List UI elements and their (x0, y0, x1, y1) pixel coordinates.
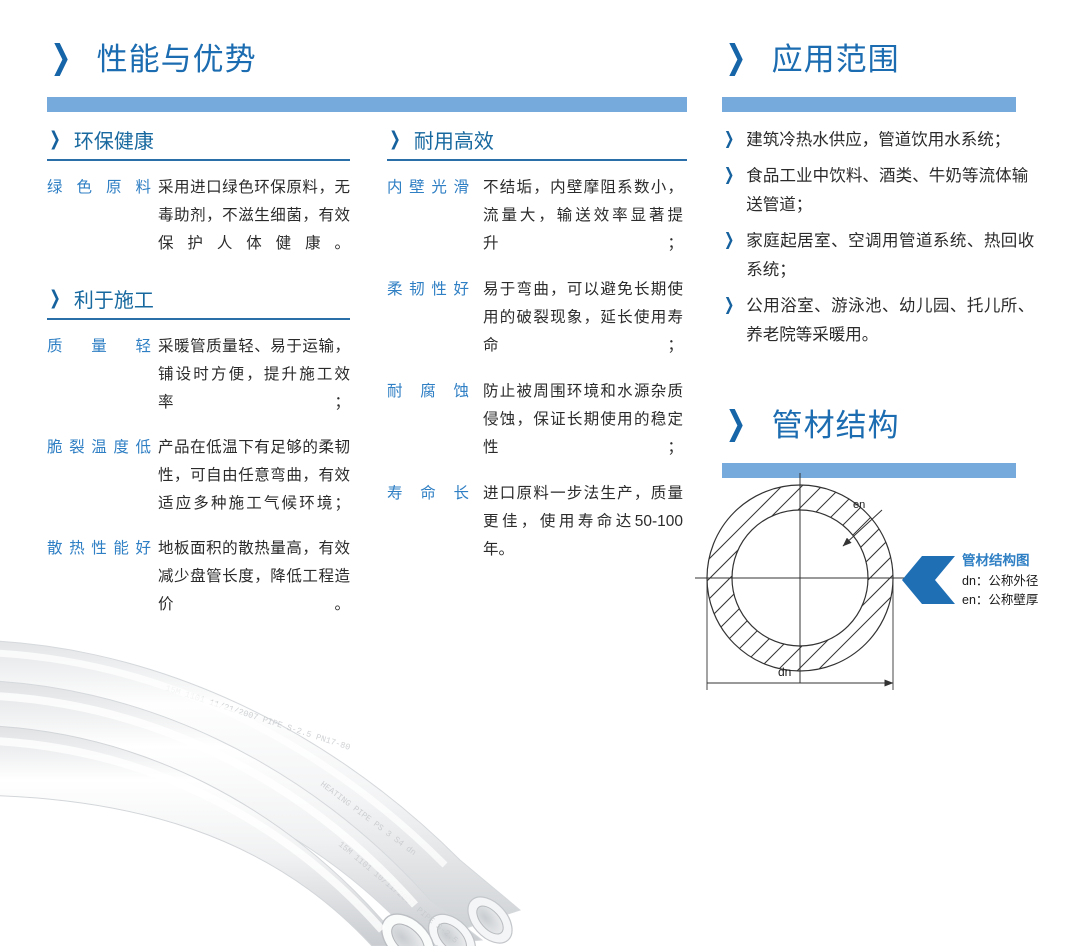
pipe-product-photo: 15M 1101 11/21/2007 PIPE S-2.5 PN17-80 H… (0, 600, 690, 946)
left-column: ❯ 环保健康 绿色原料 采用进口绿色环保原料，无毒助剂，不滋生细菌，有效保护人体… (47, 125, 350, 619)
feature-label: 脆裂温度低 (47, 434, 151, 518)
outer-diameter-label: dn (778, 665, 791, 679)
application-accent-bar (722, 97, 1016, 112)
subsection-eco-header: ❯ 环保健康 (47, 125, 350, 154)
right-column: ❯ 应用范围 ❯ 建筑冷热水供应，管道饮用水系统； ❯ 食品工业中饮料、酒类、牛… (722, 34, 1042, 478)
chevron-right-icon: ❯ (724, 130, 734, 155)
subsection-construction-title: 利于施工 (74, 284, 154, 313)
feature-text: 产品在低温下有足够的柔韧性，可自由任意弯曲，有效适应多种施工气候环境； (158, 434, 350, 518)
list-item-text: 食品工业中饮料、酒类、牛奶等流体输送管道； (746, 162, 1028, 220)
chevron-right-icon: ❯ (724, 166, 734, 220)
page-title: 性能与优势 (97, 34, 257, 79)
feature-row: 质量轻 采暖管质量轻、易于运输，铺设时方便，提升施工效率； (47, 333, 350, 417)
wall-thickness-leader (843, 510, 882, 546)
legend-arrow-icon (902, 556, 955, 604)
feature-row: 脆裂温度低 产品在低温下有足够的柔韧性，可自由任意弯曲，有效适应多种施工气候环境… (47, 434, 350, 518)
subsection-durable-rule (387, 159, 687, 161)
wall-thickness-label: en (853, 499, 865, 511)
feature-label: 绿色原料 (47, 174, 151, 258)
application-list: ❯ 建筑冷热水供应，管道饮用水系统； ❯ 食品工业中饮料、酒类、牛奶等流体输送管… (722, 126, 1042, 350)
subsection-eco-rule (47, 159, 350, 161)
feature-label: 柔韧性好 (387, 276, 469, 360)
application-title-row: ❯ 应用范围 (722, 34, 1042, 79)
chevron-right-icon: ❯ (724, 231, 734, 285)
performance-section-header: ❯ 性能与优势 (47, 34, 687, 112)
feature-row: 柔韧性好 易于弯曲，可以避免长期使用的破裂现象，延长使用寿命； (387, 276, 687, 360)
application-section-header: ❯ 应用范围 (722, 34, 1042, 112)
feature-text: 采暖管质量轻、易于运输，铺设时方便，提升施工效率； (158, 333, 350, 417)
subsection-durable-header: ❯ 耐用高效 (387, 125, 687, 154)
subsection-construction-rule (47, 318, 350, 320)
performance-accent-bar (47, 97, 687, 112)
subsection-durable-title: 耐用高效 (414, 125, 494, 154)
list-item-text: 建筑冷热水供应，管道饮用水系统； (746, 126, 1010, 155)
structure-section-header: ❯ 管材结构 (722, 400, 1042, 478)
list-item: ❯ 家庭起居室、空调用管道系统、热回收系统； (722, 227, 1042, 285)
legend-en: en：公称壁厚 (962, 592, 1038, 607)
list-item: ❯ 建筑冷热水供应，管道饮用水系统； (722, 126, 1042, 155)
chevron-right-icon: ❯ (724, 296, 734, 350)
chevron-right-icon: ❯ (725, 40, 746, 73)
list-item-text: 公用浴室、游泳池、幼儿园、托儿所、养老院等采暖用。 (746, 292, 1034, 350)
pipe-photo-svg: 15M 1101 11/21/2007 PIPE S-2.5 PN17-80 H… (0, 600, 690, 946)
list-item: ❯ 公用浴室、游泳池、幼儿园、托儿所、养老院等采暖用。 (722, 292, 1042, 350)
feature-label: 质量轻 (47, 333, 151, 417)
subsection-construction-header: ❯ 利于施工 (47, 284, 350, 313)
list-item: ❯ 食品工业中饮料、酒类、牛奶等流体输送管道； (722, 162, 1042, 220)
feature-text: 不结垢，内壁摩阻系数小，流量大，输送效率显著提升； (483, 174, 683, 258)
legend-dn: dn：公称外径 (962, 574, 1038, 588)
feature-text: 进口原料一步法生产，质量更佳，使用寿命达50-100年。 (483, 480, 683, 564)
feature-row: 寿命长 进口原料一步法生产，质量更佳，使用寿命达50-100年。 (387, 480, 687, 564)
pipe-cross-section-svg: en dn 管材结构图 dn：公称外径 en：公称壁厚 (690, 468, 1082, 708)
feature-label: 内壁光滑 (387, 174, 469, 258)
chevron-right-icon: ❯ (725, 406, 746, 439)
feature-label: 寿命长 (387, 480, 469, 564)
legend-title: 管材结构图 (962, 552, 1030, 568)
feature-text: 采用进口绿色环保原料，无毒助剂，不滋生细菌，有效保护人体健康。 (158, 174, 350, 258)
feature-row: 绿色原料 采用进口绿色环保原料，无毒助剂，不滋生细菌，有效保护人体健康。 (47, 174, 350, 258)
feature-row: 内壁光滑 不结垢，内壁摩阻系数小，流量大，输送效率显著提升； (387, 174, 687, 258)
structure-title: 管材结构 (772, 400, 900, 445)
subsection-eco-title: 环保健康 (74, 125, 154, 154)
feature-row: 耐腐蚀 防止被周围环境和水源杂质侵蚀，保证长期使用的稳定性； (387, 378, 687, 462)
list-item-text: 家庭起居室、空调用管道系统、热回收系统； (746, 227, 1034, 285)
chevron-right-icon: ❯ (49, 289, 60, 308)
structure-title-row: ❯ 管材结构 (722, 400, 1042, 445)
middle-column: ❯ 耐用高效 内壁光滑 不结垢，内壁摩阻系数小，流量大，输送效率显著提升； 柔韧… (387, 125, 687, 564)
chevron-right-icon: ❯ (49, 130, 60, 149)
feature-label: 耐腐蚀 (387, 378, 469, 462)
chevron-right-icon: ❯ (50, 40, 71, 73)
feature-text: 防止被周围环境和水源杂质侵蚀，保证长期使用的稳定性； (483, 378, 683, 462)
application-title: 应用范围 (772, 34, 900, 79)
performance-title-row: ❯ 性能与优势 (47, 34, 687, 79)
feature-text: 易于弯曲，可以避免长期使用的破裂现象，延长使用寿命； (483, 276, 683, 360)
chevron-right-icon: ❯ (389, 130, 400, 149)
pipe-structure-diagram: en dn 管材结构图 dn：公称外径 en：公称壁厚 (690, 468, 1082, 708)
subsection-construction: ❯ 利于施工 质量轻 采暖管质量轻、易于运输，铺设时方便，提升施工效率； 脆裂温… (47, 284, 350, 619)
subsection-eco: ❯ 环保健康 绿色原料 采用进口绿色环保原料，无毒助剂，不滋生细菌，有效保护人体… (47, 125, 350, 258)
